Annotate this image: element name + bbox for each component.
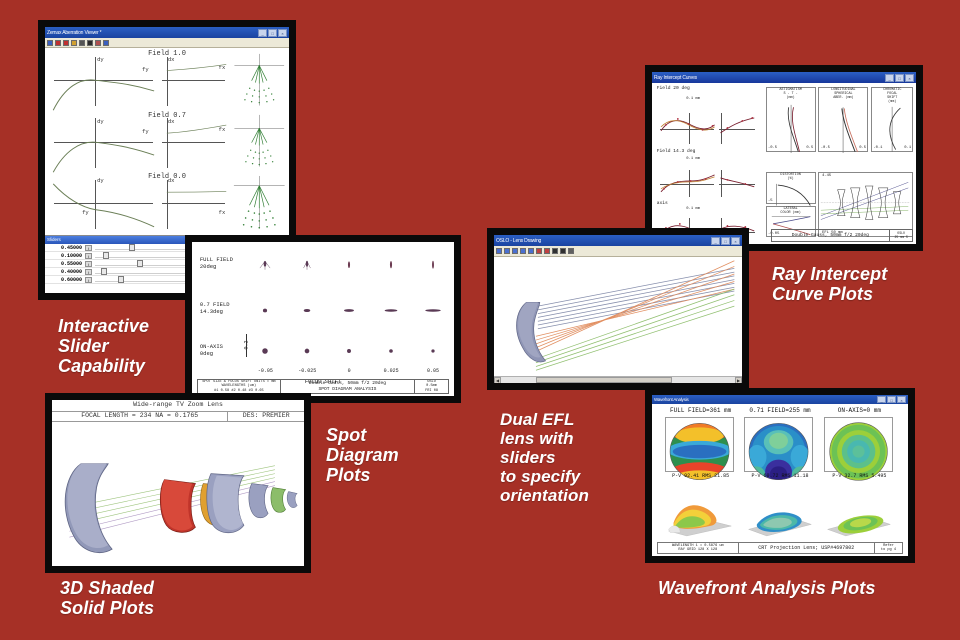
window-toolbar[interactable] [45, 38, 289, 48]
ray-intercept-window: Ray Intercept Curves _ □ × Field 20 deg … [652, 72, 916, 244]
spot-blob [385, 344, 397, 362]
sagittal-plot: dx fx [160, 171, 228, 233]
lens-3d-ray-drawing [494, 257, 742, 375]
slider-spinner[interactable]: ↕ [85, 277, 92, 283]
focal-length-label: FOCAL LENGTH = 234 NA = 0.1765 [52, 412, 228, 421]
spot-blob [425, 257, 441, 279]
dual-efl-window: OSLO - Lens Drawing _ □ × [494, 235, 742, 383]
print-icon[interactable] [63, 40, 69, 46]
window-titlebar[interactable]: Wavefront Analysis _ □ × [652, 395, 908, 404]
spot-blob [383, 257, 399, 279]
ray-fan-curve [658, 111, 757, 141]
wavefront-contour-map [824, 417, 893, 472]
copy-icon[interactable] [71, 40, 77, 46]
tick-right: 0.5 [859, 146, 866, 150]
spot-blob [259, 344, 271, 362]
slider-value: 0.55000 [48, 261, 82, 267]
slider-spinner[interactable]: ↕ [85, 261, 92, 267]
wavefront-footer: WAVELENGTH 1 = 0.5876 um RAY GRID 128 X … [657, 542, 903, 554]
spot-fan [230, 52, 289, 107]
spot-fan [230, 174, 289, 231]
raytrace-icon[interactable] [552, 248, 558, 254]
collage-canvas: Zemax Aberration Viewer * _ □ × [0, 0, 960, 640]
tangential-curve [50, 110, 157, 174]
surface-full-field [662, 498, 736, 539]
panel-spot-diagram: FULL FIELD 20deg 0.7 FIELD 14.3deg ON-AX… [185, 235, 461, 403]
scale-label: 0.1 mm [686, 157, 700, 161]
spot-column-label: -0.025 [298, 368, 316, 374]
tick-right: 0.5 [806, 146, 813, 150]
panel-3d-solid: Wide-range TV Zoom Lens FOCAL LENGTH = 2… [45, 393, 311, 573]
footer-meta: OSLO 25 mm S [890, 230, 912, 241]
caption-wavefront: Wavefront Analysis Plots [658, 578, 875, 598]
close-button[interactable]: × [278, 29, 287, 37]
spot-column-label: -0.05 [258, 368, 273, 374]
tangential-curve [50, 171, 157, 235]
grid-icon[interactable] [568, 248, 574, 254]
tick-left: -0.1 [873, 146, 882, 150]
scroll-right-arrow[interactable]: ▶ [735, 377, 742, 384]
footer-meta: Refer to pg 4 [875, 543, 902, 553]
spot-footer-meta: OSLO 0.5mm FRI 08 [415, 380, 447, 393]
sagittal-curve [160, 171, 228, 212]
spot-row-label: FULL FIELD 20deg [200, 257, 233, 271]
wavefront-contour-map [665, 417, 734, 472]
window-title: OSLO - Lens Drawing [496, 238, 711, 244]
wavefront-stat: P-V 60.72 RMS 11.18 [751, 473, 808, 479]
pan-icon[interactable] [544, 248, 550, 254]
surface-on-axis [821, 498, 895, 539]
spot-diagram-window: FULL FIELD 20deg 0.7 FIELD 14.3deg ON-AX… [192, 242, 454, 396]
slider-spinner[interactable]: ↕ [85, 253, 92, 259]
window-titlebar[interactable]: Ray Intercept Curves _ □ × [652, 72, 916, 83]
slider-spinner[interactable]: ↕ [85, 245, 92, 251]
scale-label: 0.1 mm [686, 97, 700, 101]
minimize-button[interactable]: _ [711, 237, 720, 245]
caption-ray-intercept: Ray Intercept Curve Plots [772, 264, 887, 304]
spot-scale-label: 0.2 [243, 341, 249, 350]
zoom-in-icon[interactable] [528, 248, 534, 254]
window-titlebar[interactable]: Zemax Aberration Viewer * _ □ × [45, 27, 289, 38]
slider-value: 0.10000 [48, 253, 82, 259]
window-titlebar[interactable]: OSLO - Lens Drawing _ □ × [494, 235, 742, 246]
spot-column-label: 0.025 [384, 368, 399, 374]
scroll-left-arrow[interactable]: ◀ [494, 377, 501, 384]
slider-thumb[interactable] [129, 244, 135, 251]
window-title: Wavefront Analysis [654, 397, 877, 402]
caption-3d-solid: 3D Shaded Solid Plots [60, 578, 154, 618]
astigmatism-plot: ASTIGMATISM S - T - (mm) -0.5 0.5 [766, 87, 816, 152]
slider-spinner[interactable]: ↕ [85, 269, 92, 275]
ray-fan-column: Field 20 deg 0.1 mm Field 14.3 deg 0.1 [655, 86, 761, 223]
wavefront-column-header: ON-AXIS=0 mm [838, 407, 881, 414]
caption-spot-diagram: Spot Diagram Plots [326, 425, 399, 485]
panel-ray-intercept: Ray Intercept Curves _ □ × Field 20 deg … [645, 65, 923, 251]
footer-wavelength: WAVELENGTH 1 = 0.5876 um RAY GRID 128 X … [658, 543, 738, 553]
ray-fan-row [658, 168, 757, 198]
solid-header: Wide-range TV Zoom Lens FOCAL LENGTH = 2… [52, 400, 304, 422]
scale-label: 0.1 mm [686, 207, 700, 211]
tangential-plot: dy fy [50, 171, 157, 233]
spot-blob [343, 344, 355, 362]
tangential-plot: dy fy [50, 110, 157, 172]
aberration-block: Field 0.7 dy fy dx fx [45, 110, 289, 172]
spot-footer-units: SPOT SIZE & FOCUS SHIFT UNITS = mm WAVEL… [198, 380, 280, 393]
slider-thumb[interactable] [118, 276, 124, 283]
wavefront-column-header: FULL FIELD=361 mm [670, 407, 731, 414]
scroll-thumb[interactable] [536, 377, 672, 383]
slider-value: 0.45000 [48, 245, 82, 251]
shade-icon[interactable] [560, 248, 566, 254]
minimize-button[interactable]: _ [885, 74, 894, 82]
print-icon[interactable] [520, 248, 526, 254]
spot-blob [299, 257, 316, 279]
spot-row-label: 0.7 FIELD 14.3deg [200, 302, 230, 316]
close-button[interactable]: × [905, 74, 914, 82]
ray-fan-row [658, 111, 757, 147]
update-icon[interactable] [87, 40, 93, 46]
spot-blob [341, 257, 357, 279]
spot-blob [427, 344, 439, 362]
spot-blob [257, 303, 273, 322]
window-title: Ray Intercept Curves [654, 75, 885, 81]
solid-model-window: Wide-range TV Zoom Lens FOCAL LENGTH = 2… [52, 400, 304, 566]
rotate-icon[interactable] [536, 248, 542, 254]
slider-thumb[interactable] [103, 252, 109, 259]
window-toolbar[interactable] [494, 246, 742, 257]
lens-layout-drawing [819, 173, 912, 233]
window-title: Zemax Aberration Viewer * [47, 30, 258, 36]
spot-footer-bar: SPOT SIZE & FOCUS SHIFT UNITS = mm WAVEL… [197, 379, 449, 394]
wavefront-surface-3d [742, 498, 816, 537]
wavefront-contour-map [744, 417, 813, 472]
tangential-plot: dy fy [50, 48, 157, 110]
settings-icon[interactable] [79, 40, 85, 46]
maximize-button[interactable]: □ [268, 29, 277, 37]
caption-interactive-slider: Interactive Slider Capability [58, 316, 149, 376]
spot-column-label: 0.05 [427, 368, 439, 374]
caption-dual-efl: Dual EFL lens with sliders to specify or… [500, 410, 589, 505]
ray-intercept-footer: Double Gauss, 50mm f/2 20deg OSLO 25 mm … [771, 229, 914, 242]
designer-label: DES: PREMIER [228, 412, 304, 421]
spot-column-label: 0 [348, 368, 351, 374]
tick-left: -0.5 [768, 146, 777, 150]
surface-071-field [742, 498, 816, 539]
tick-right: 0.1 [904, 146, 911, 150]
tangential-curve [50, 48, 157, 112]
aberration-block: Field 1.0 dy fy [45, 48, 289, 110]
maximize-button[interactable]: □ [887, 396, 896, 403]
spot-blob [301, 344, 313, 362]
slider-thumb[interactable] [137, 260, 143, 267]
lens-layout-plot: 4.45 EFL 50 mm [818, 172, 913, 237]
minimize-button[interactable]: _ [258, 29, 267, 37]
field-label: Field 20 deg [657, 86, 690, 91]
help-icon[interactable] [103, 40, 109, 46]
footer-title: Double Gauss, 50mm f/2 20deg [772, 230, 890, 241]
distortion-plot: DISTORTION (%) -5 [766, 172, 816, 205]
field-label: axis [657, 201, 668, 206]
spot-blob [380, 303, 402, 322]
sagittal-curve [160, 48, 228, 89]
shaded-solid-drawing [52, 422, 304, 566]
spot-blob [257, 257, 274, 279]
close-button[interactable]: × [897, 396, 906, 403]
save-icon[interactable] [55, 40, 61, 46]
panel-dual-efl: OSLO - Lens Drawing _ □ × [487, 228, 749, 390]
spot-footer-title: Double Gauss, 50mm f/2 20deg SPOT DIAGRA… [281, 380, 416, 393]
tick-left: -0.5 [821, 146, 830, 150]
new-icon[interactable] [496, 248, 502, 254]
wavefront-window: Wavefront Analysis _ □ × FULL FIELD=361 … [652, 395, 908, 556]
spot-blob [421, 303, 445, 322]
distortion-curve [767, 173, 815, 209]
field-label: Field 14.3 deg [657, 149, 696, 154]
close-button[interactable]: × [731, 237, 740, 245]
save-icon[interactable] [512, 248, 518, 254]
wavefront-column-header: 0.71 FIELD=255 mm [749, 407, 810, 414]
spherical-aberration-plot: LONGITUDINAL SPHERICAL ABER. (mm) -0.5 0… [818, 87, 868, 152]
spot-fan [230, 113, 289, 168]
spot-blob [339, 303, 359, 322]
chromatic-focal-shift-plot: CHROMATIC FOCAL SHIFT (mm) -0.1 0.1 [871, 87, 913, 152]
wavefront-stat: P-V 92.41 RMS 21.85 [672, 473, 729, 479]
minimize-button[interactable]: _ [877, 396, 886, 403]
solid-header-title: Wide-range TV Zoom Lens [52, 401, 304, 410]
horizontal-scrollbar[interactable]: ◀ ▶ [494, 376, 742, 383]
open-icon[interactable] [47, 40, 53, 46]
slider-thumb[interactable] [101, 268, 107, 275]
sagittal-plot: dx fx [160, 48, 228, 110]
open-icon[interactable] [504, 248, 510, 254]
maximize-button[interactable]: □ [895, 74, 904, 82]
footer-title: CRT Projection Lens; USP#4697802 [739, 543, 876, 553]
sagittal-curve [160, 110, 228, 151]
zoom-icon[interactable] [95, 40, 101, 46]
panel-wavefront: Wavefront Analysis _ □ × FULL FIELD=361 … [645, 388, 915, 563]
wavefront-surface-3d [821, 498, 895, 537]
aberration-block: Field 0.0 dy fy dx fx [45, 171, 289, 233]
aberration-plot-area: Field 1.0 dy fy [45, 48, 289, 233]
ray-fan-curve [658, 168, 757, 194]
wavefront-stat: P-V 32.7 RMS 5.495 [832, 473, 886, 479]
spot-row-label: ON-AXIS 0deg [200, 344, 223, 358]
spot-blob [298, 303, 316, 322]
slider-value: 0.60000 [48, 277, 82, 283]
wavefront-surface-3d [662, 498, 736, 537]
slider-value: 0.40000 [48, 269, 82, 275]
sagittal-plot: dx fx [160, 110, 228, 172]
tick-left: -5 [768, 199, 773, 203]
maximize-button[interactable]: □ [721, 237, 730, 245]
spot-diagram-grid: FULL FIELD 20deg 0.7 FIELD 14.3deg ON-AX… [192, 242, 454, 396]
